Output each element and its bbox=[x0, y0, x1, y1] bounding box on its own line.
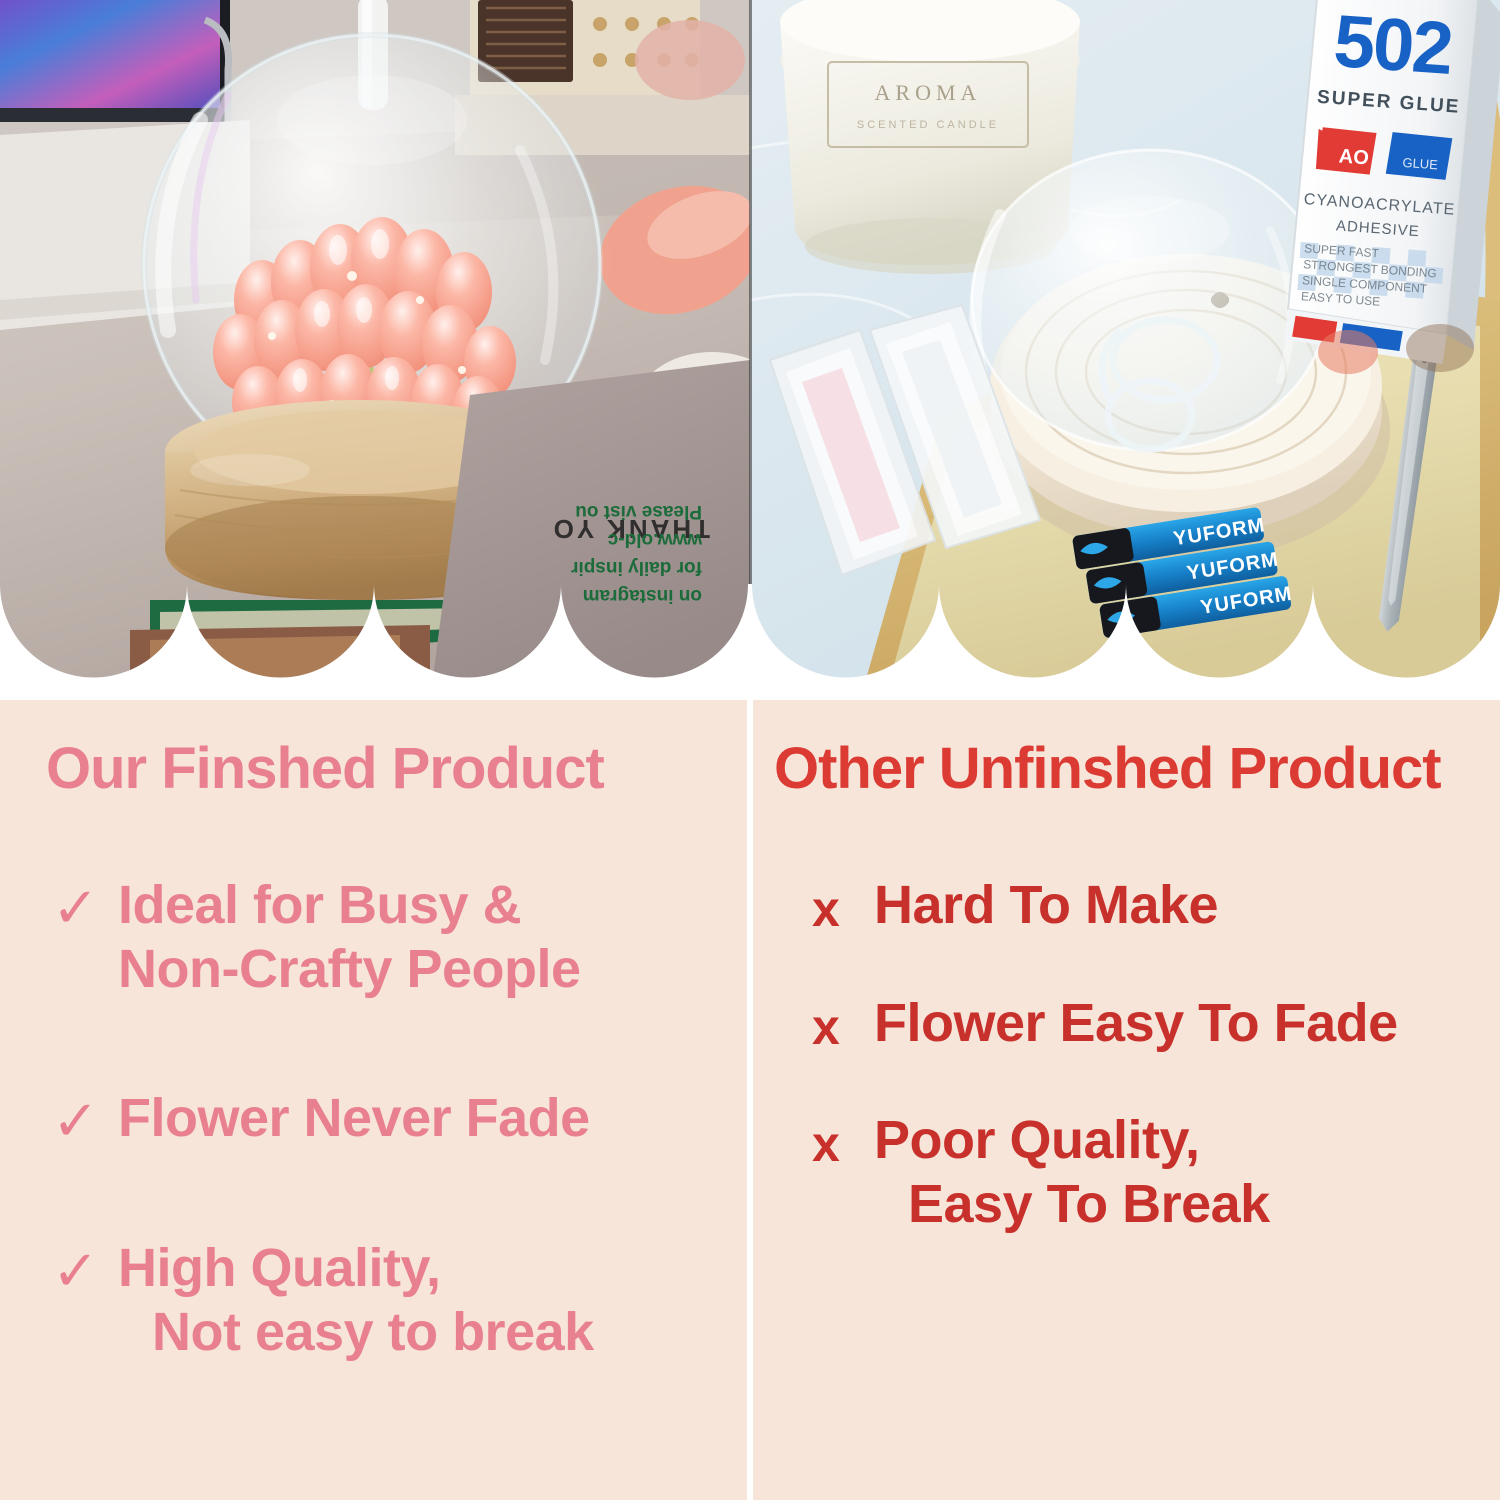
bullet-text: Hard To Make bbox=[874, 874, 1218, 938]
svg-text:AROMA: AROMA bbox=[875, 80, 982, 105]
list-item: x Hard To Make bbox=[812, 874, 1500, 938]
svg-text:Please vist ou: Please vist ou bbox=[575, 501, 702, 522]
check-mark-icon: ✓ bbox=[52, 880, 118, 936]
list-item: x Poor Quality, Easy To Break bbox=[812, 1109, 1500, 1236]
column-divider bbox=[747, 700, 753, 1500]
unfinished-product-photo: AROMA SCENTED CANDLE bbox=[750, 0, 1500, 700]
photo-seam-divider bbox=[749, 0, 752, 700]
svg-text:502: 502 bbox=[1331, 0, 1454, 90]
list-item: ✓ High Quality, Not easy to break bbox=[52, 1237, 750, 1364]
unfinished-product-heading: Other Unfinshed Product bbox=[774, 740, 1500, 798]
bullet-text: Flower Easy To Fade bbox=[874, 992, 1398, 1056]
bullet-text: Flower Never Fade bbox=[118, 1087, 590, 1151]
finished-product-column: Our Finshed Product ✓ Ideal for Busy & N… bbox=[0, 700, 750, 1500]
svg-text:for daily inspir: for daily inspir bbox=[570, 557, 702, 578]
list-item: x Flower Easy To Fade bbox=[812, 992, 1500, 1056]
photo-band: THANK YO on instagram for daily inspir w… bbox=[0, 0, 1500, 700]
bullet-text: Poor Quality, Easy To Break bbox=[874, 1109, 1270, 1236]
svg-text:on instagram: on instagram bbox=[583, 585, 702, 606]
finished-product-bullet-list: ✓ Ideal for Busy & Non-Crafty People ✓ F… bbox=[0, 874, 750, 1365]
bullet-text: Ideal for Busy & Non-Crafty People bbox=[118, 874, 581, 1001]
bullet-line-1: High Quality, bbox=[118, 1238, 441, 1298]
svg-text:AO: AO bbox=[1338, 145, 1369, 169]
bullet-line-1: Poor Quality, bbox=[874, 1110, 1200, 1170]
bullet-line-2: Not easy to break bbox=[118, 1301, 594, 1365]
x-mark-icon: x bbox=[812, 1119, 874, 1169]
finished-product-heading: Our Finshed Product bbox=[46, 740, 750, 798]
bullet-line-1: Ideal for Busy & bbox=[118, 875, 521, 935]
svg-text:www.old-c: www.old-c bbox=[607, 529, 703, 550]
list-item: ✓ Flower Never Fade bbox=[52, 1087, 750, 1151]
bullet-line-1: Flower Easy To Fade bbox=[874, 993, 1398, 1053]
list-item: ✓ Ideal for Busy & Non-Crafty People bbox=[52, 874, 750, 1001]
unfinished-product-bullet-list: x Hard To Make x Flower Easy To Fade x P… bbox=[750, 874, 1500, 1237]
check-mark-icon: ✓ bbox=[52, 1243, 118, 1299]
finished-product-photo: THANK YO on instagram for daily inspir w… bbox=[0, 0, 750, 700]
x-mark-icon: x bbox=[812, 884, 874, 934]
bullet-text: High Quality, Not easy to break bbox=[118, 1237, 594, 1364]
svg-text:SCENTED CANDLE: SCENTED CANDLE bbox=[857, 119, 999, 131]
bullet-line-2: Easy To Break bbox=[874, 1173, 1270, 1237]
product-comparison-infographic: THANK YO on instagram for daily inspir w… bbox=[0, 0, 1500, 1500]
bullet-line-1: Flower Never Fade bbox=[118, 1088, 590, 1148]
unfinished-product-column: Other Unfinshed Product x Hard To Make x… bbox=[750, 700, 1500, 1500]
x-mark-icon: x bbox=[812, 1002, 874, 1052]
check-mark-icon: ✓ bbox=[52, 1093, 118, 1149]
bullet-line-2: Non-Crafty People bbox=[118, 939, 581, 999]
bullet-line-1: Hard To Make bbox=[874, 875, 1218, 935]
svg-text:GLUE: GLUE bbox=[1402, 155, 1439, 172]
